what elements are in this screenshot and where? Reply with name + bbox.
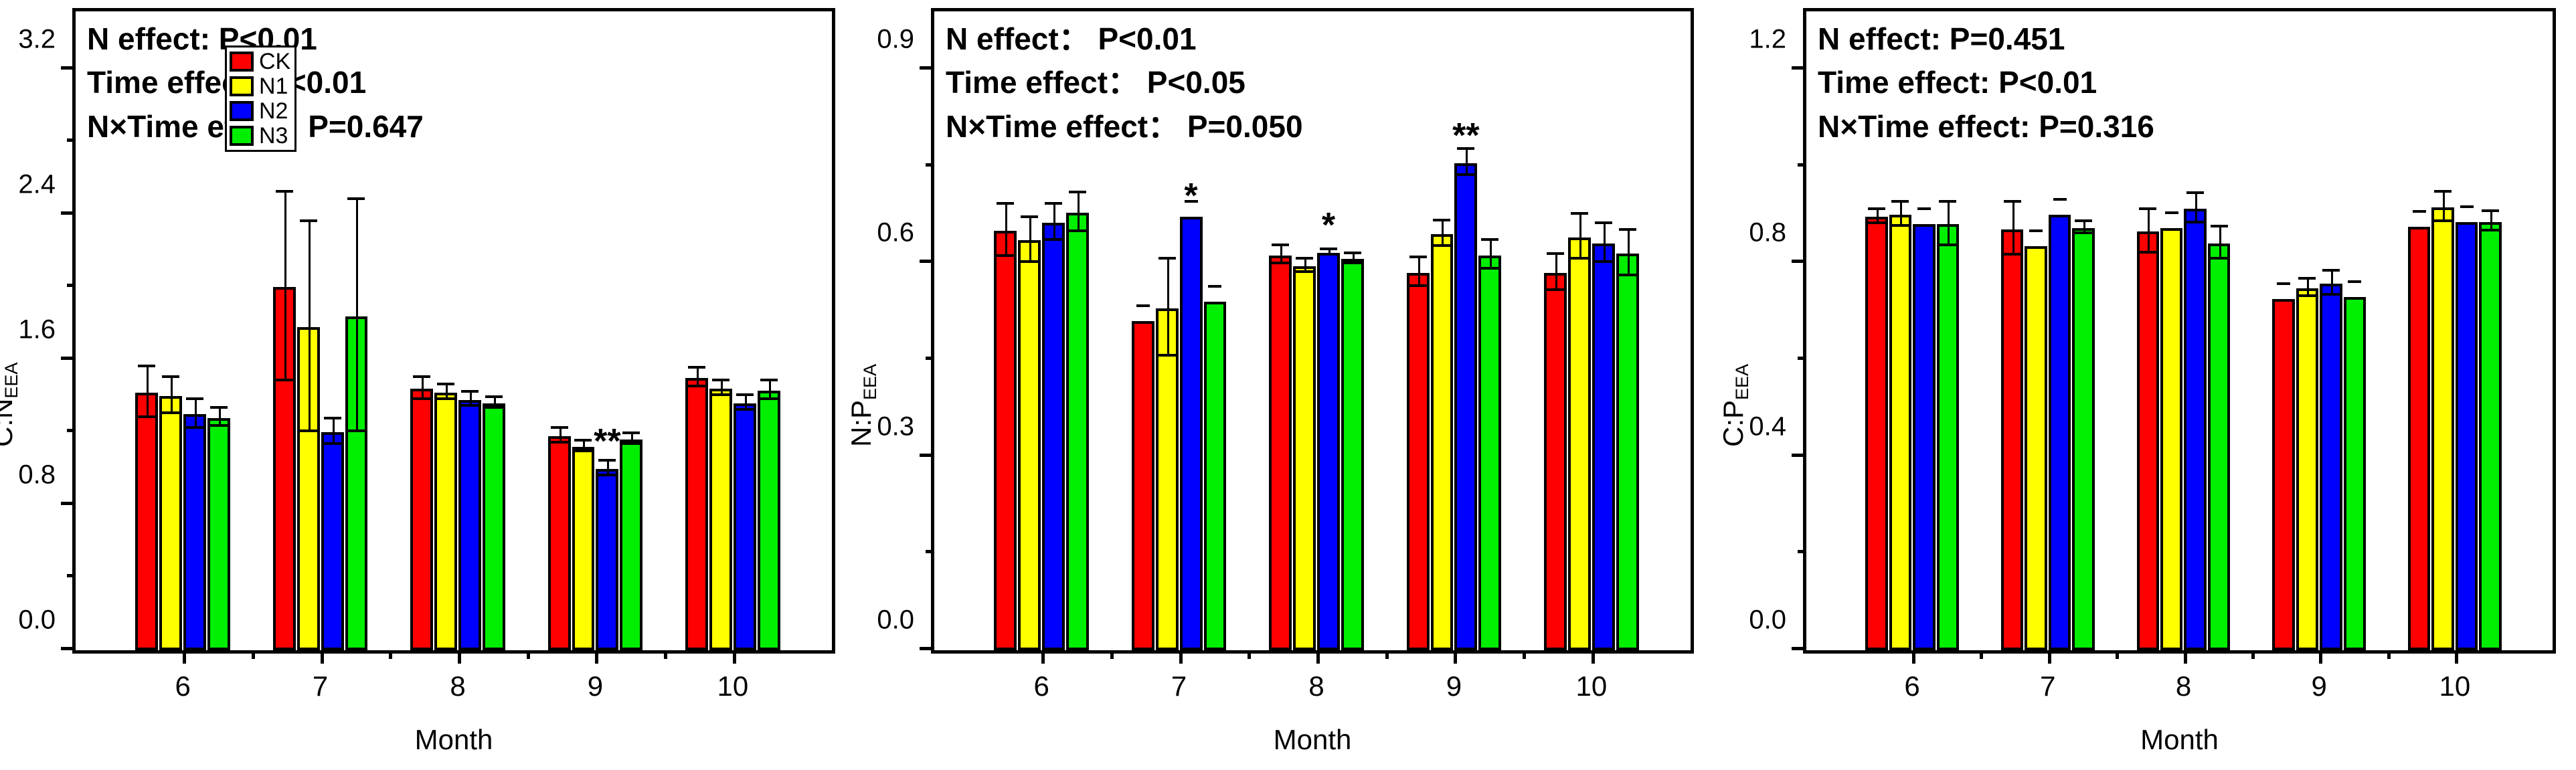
y-axis-title-main: N:P (845, 400, 877, 447)
error-bar-cap-bottom (736, 408, 754, 411)
significance-marker: ** (594, 424, 620, 459)
error-bar-cap-top (1069, 191, 1086, 193)
bar-slot (620, 11, 642, 650)
error-bar-cap-top (300, 219, 317, 222)
bar-slot (2296, 11, 2318, 650)
bar-group (2272, 11, 2366, 650)
bar-slot (458, 11, 481, 650)
error-bar-cap-top (1296, 257, 1313, 260)
bar-n2-month-7[interactable] (321, 432, 344, 650)
error-bar-cap-bottom (1891, 224, 1909, 227)
legend-item-n1[interactable]: N1 (230, 75, 290, 98)
bar-ck-month-8[interactable] (2137, 231, 2159, 650)
error-bar-cap-top (1045, 202, 1062, 205)
error-bar-cap-bottom (276, 379, 293, 381)
bar-n1-month-6[interactable] (1889, 215, 1911, 650)
y-axis-tick (920, 66, 934, 70)
error-bar-cap-top (347, 197, 365, 200)
bar-group (410, 11, 505, 650)
y-axis-tick (920, 260, 934, 263)
error-bar-cap-bottom (1069, 229, 1086, 232)
x-axis-tick (2319, 650, 2322, 664)
x-axis-minor-tick (1110, 650, 1114, 659)
y-axis-tick-label: 0.8 (1749, 218, 1786, 248)
error-bar (171, 378, 173, 414)
y-axis-minor-tick (67, 574, 76, 577)
bar-slot (2208, 11, 2230, 650)
bar-slot (2272, 11, 2294, 650)
y-axis-minor-tick (1798, 163, 1806, 167)
error-bar (147, 367, 149, 418)
error-bar-cap-bottom (138, 415, 155, 418)
bar-ck-month-8[interactable] (410, 389, 433, 650)
y-axis-minor-tick (67, 284, 76, 287)
error-bar (2148, 210, 2150, 254)
bar-n2-month-8[interactable] (458, 400, 481, 650)
x-axis-minor-tick (2387, 650, 2391, 659)
bar-n2-month-10[interactable] (2456, 222, 2478, 650)
bar-ck-month-10[interactable] (2408, 227, 2430, 650)
error-bar-cap-top (2139, 207, 2156, 210)
error-bar (1628, 231, 1630, 276)
error-bar-cap-top (1939, 200, 1956, 203)
error-bar-cap-bottom (997, 254, 1014, 257)
x-axis-minor-tick (527, 650, 530, 659)
bar-slot (2456, 11, 2478, 650)
error-bar-cap-top (2029, 229, 2043, 232)
y-axis-tick (61, 357, 76, 360)
x-axis-tick (1592, 650, 1595, 664)
legend: CKN1N2N3 (225, 45, 296, 152)
x-axis-tick (321, 650, 324, 664)
error-bar-cap-bottom (300, 429, 317, 432)
bar-n1-month-8[interactable] (2160, 228, 2182, 650)
error-bar-cap-bottom (324, 442, 341, 445)
stats-line-n-effect: N effect: P=0.451 (1818, 17, 2154, 61)
significance-marker: * (1184, 179, 1197, 213)
error-bar (1167, 260, 1169, 357)
bar-n3-month-8[interactable] (2208, 244, 2230, 650)
error-bar-cap-top (1481, 238, 1498, 241)
bar-n3-month-6[interactable] (1066, 213, 1089, 650)
figure-root: 0.00.81.62.43.2678**910MonthC:NEEAN effe… (0, 0, 2576, 770)
y-axis-tick-label: 0.0 (877, 605, 914, 636)
error-bar (2012, 203, 2014, 256)
error-bar-cap-bottom (712, 393, 729, 396)
bar-n3-month-10[interactable] (1616, 254, 1639, 650)
error-bar (1029, 218, 1031, 264)
error-bar (333, 419, 335, 445)
bar-slot (1431, 11, 1454, 650)
error-bar-cap-top (1547, 252, 1564, 255)
bar-n2-month-7[interactable] (1180, 217, 1203, 650)
bar-n3-month-6[interactable] (1937, 224, 1959, 650)
x-axis-tick-label: 9 (1446, 670, 1462, 702)
error-bar-cap-bottom (760, 397, 778, 400)
x-axis-tick-label: 6 (1034, 670, 1049, 702)
x-axis-tick-label: 10 (2439, 670, 2471, 702)
y-axis-title-subscript: EEA (860, 364, 880, 400)
y-axis-tick-label: 2.4 (18, 169, 56, 199)
error-bar (1418, 258, 1420, 286)
error-bar (2219, 227, 2221, 260)
x-axis-tick (2184, 650, 2187, 664)
error-bar (195, 400, 197, 429)
error-bar-cap-top (2186, 191, 2204, 194)
legend-item-ck[interactable]: CK (230, 50, 290, 73)
error-bar-cap-bottom (461, 404, 479, 407)
error-bar-cap-bottom (186, 426, 203, 429)
error-bar-cap-top (2348, 280, 2361, 283)
x-axis-tick (595, 650, 598, 664)
error-bar-cap-top (712, 379, 729, 381)
bar-slot (2160, 11, 2182, 650)
x-axis-minor-tick (1248, 650, 1251, 659)
x-axis-tick-label: 6 (1904, 670, 1919, 702)
error-bar-cap-top (324, 417, 341, 419)
y-axis-tick (1792, 66, 1806, 70)
error-bar-cap-bottom (162, 411, 179, 414)
error-bar-cap-top (688, 366, 705, 369)
x-axis-tick (733, 650, 736, 664)
x-axis-minor-tick (389, 650, 392, 659)
chart-panel-np: 0.00.30.60.96*7*8**910MonthN:PEEAN effec… (859, 0, 1717, 770)
error-bar-cap-top (1571, 212, 1588, 215)
error-bar-cap-top (1409, 256, 1427, 258)
error-bar (1900, 203, 1902, 227)
x-axis-tick-label: 6 (175, 670, 191, 702)
x-axis-tick (2048, 650, 2051, 664)
y-axis-tick (920, 454, 934, 457)
x-axis-title: Month (931, 724, 1694, 756)
bar-slot (1341, 11, 1364, 650)
error-bar-cap-top (2434, 190, 2452, 193)
error-bar-cap-bottom (437, 397, 454, 400)
x-axis-minor-tick (1523, 650, 1526, 659)
y-axis-tick (61, 502, 76, 505)
bar-n1-month-10[interactable] (709, 389, 732, 650)
error-bar-cap-top (2053, 198, 2067, 201)
bar-ck-month-7[interactable] (2001, 229, 2023, 650)
y-axis-title: C:PEEA (1717, 364, 1749, 447)
error-bar-cap-top (551, 426, 568, 429)
significance-marker: ** (1452, 118, 1479, 153)
error-bar-cap-bottom (210, 424, 228, 427)
bar-group: ** (548, 11, 643, 650)
bar-ck-month-6[interactable] (994, 231, 1017, 650)
error-bar-cap-bottom (1547, 288, 1564, 291)
y-axis-tick (920, 647, 934, 650)
error-bar (2195, 194, 2197, 223)
bar-slot (758, 11, 780, 650)
y-axis-tick-label: 0.9 (877, 24, 914, 54)
bar-slot: ** (596, 11, 618, 650)
bar-ck-month-10[interactable] (1544, 273, 1567, 650)
chart-panel-cn: 0.00.81.62.43.2678**910MonthC:NEEAN effe… (0, 0, 859, 770)
bar-n2-month-10[interactable] (1592, 244, 1615, 650)
bar-n2-month-6[interactable] (183, 414, 206, 650)
x-axis-minor-tick (2251, 650, 2255, 659)
error-bar-cap-top (461, 390, 479, 393)
error-bar-cap-top (162, 375, 179, 378)
legend-swatch-ck (230, 52, 254, 72)
error-bar-cap-top (2075, 219, 2092, 222)
y-axis-tick-label: 0.6 (877, 218, 914, 248)
error-bar (1053, 205, 1055, 241)
error-bar (1442, 221, 1444, 248)
bar-n1-month-6[interactable] (1018, 240, 1041, 650)
bar-ck-month-10[interactable] (685, 378, 708, 650)
bar-group (685, 11, 780, 650)
error-bar-cap-top (574, 439, 592, 442)
y-axis-tick (1792, 260, 1806, 263)
bar-n2-month-7[interactable] (2049, 215, 2071, 650)
y-axis-tick (1792, 647, 1806, 650)
bar-n1-month-7[interactable] (2025, 246, 2047, 650)
bar-n2-month-6[interactable] (1042, 223, 1065, 650)
bar-n3-month-10[interactable] (2479, 222, 2501, 650)
x-axis-tick (183, 650, 186, 664)
x-axis-tick (1041, 650, 1045, 664)
chart-panel-cp: 0.00.40.81.2678910MonthC:PEEAN effect: P… (1717, 0, 2576, 770)
error-bar-cap-bottom (1939, 244, 1956, 246)
bar-n2-month-6[interactable] (1913, 224, 1935, 650)
x-axis-tick-label: 7 (1171, 670, 1187, 702)
y-axis-tick-label: 0.8 (18, 460, 56, 490)
bar-ck-month-7[interactable] (1132, 321, 1154, 650)
legend-item-n2[interactable]: N2 (230, 100, 290, 122)
stats-line-interaction-effect: N×Time effect： P=0.050 (946, 105, 1303, 149)
legend-swatch-n2 (230, 101, 254, 121)
y-axis-tick (61, 66, 76, 70)
error-bar-cap-bottom (1344, 262, 1361, 264)
bar-slot (2431, 11, 2454, 650)
error-bar (1604, 224, 1606, 263)
bar-n1-month-8[interactable] (434, 393, 457, 650)
error-bar-cap-bottom (2322, 293, 2340, 296)
x-axis-minor-tick (1385, 650, 1389, 659)
y-axis-tick (61, 211, 76, 215)
bar-ck-month-8[interactable] (1269, 256, 1292, 650)
error-bar-cap-top (736, 393, 754, 396)
x-axis-minor-tick (2116, 650, 2119, 659)
error-bar-cap-top (2211, 225, 2228, 227)
error-bar-cap-bottom (598, 474, 616, 476)
bar-n2-month-8[interactable] (1317, 253, 1340, 650)
bar-n3-month-7[interactable] (2072, 228, 2094, 650)
error-bar (1948, 203, 1950, 246)
bar-ck-month-6[interactable] (1865, 217, 1887, 650)
x-axis-tick-label: 10 (1575, 670, 1607, 702)
error-bar-cap-top (1619, 228, 1636, 231)
significance-marker: * (1322, 208, 1335, 243)
x-axis-tick-label: 9 (2312, 670, 2327, 702)
bar-ck-month-6[interactable] (135, 393, 158, 650)
error-bar (356, 200, 358, 432)
error-bar-cap-top (2277, 282, 2290, 285)
y-axis-minor-tick (1798, 357, 1806, 360)
error-bar-cap-bottom (413, 397, 430, 400)
error-bar-cap-bottom (2211, 257, 2228, 260)
error-bar-cap-bottom (1481, 267, 1498, 270)
stats-line-interaction-effect: N×Time effect: P=0.316 (1818, 105, 2154, 149)
y-axis-minor-tick (67, 138, 76, 142)
error-bar-cap-top (2460, 205, 2474, 208)
error-bar-cap-top (1208, 285, 1221, 288)
y-axis-title-main: C:N (0, 399, 18, 447)
y-axis-tick-label: 1.2 (1749, 24, 1786, 54)
error-bar-cap-bottom (2004, 253, 2021, 256)
error-bar-cap-bottom (1296, 270, 1313, 273)
bar-slot (548, 11, 571, 650)
error-bar-cap-top (2165, 211, 2178, 214)
bar-n3-month-7[interactable] (1204, 302, 1227, 650)
bar-slot: ** (1454, 11, 1477, 650)
y-axis-title-main: C:P (1717, 400, 1749, 447)
error-bar (2443, 193, 2445, 221)
y-axis-tick-label: 0.4 (1749, 411, 1786, 442)
error-bar-cap-top (186, 397, 203, 400)
y-axis-minor-tick (1798, 550, 1806, 553)
bar-slot (2408, 11, 2430, 650)
bar-slot (734, 11, 756, 650)
bar-group (2408, 11, 2502, 650)
legend-label: N1 (259, 75, 288, 98)
y-axis-minor-tick (926, 163, 934, 167)
legend-label: N2 (259, 100, 288, 122)
x-axis-title: Month (1803, 724, 2556, 756)
error-bar-cap-bottom (485, 406, 503, 409)
bar-n3-month-10[interactable] (758, 391, 780, 650)
y-axis-title: C:NEEA (0, 363, 19, 447)
error-bar-cap-top (1021, 215, 1038, 218)
x-axis-minor-tick (664, 650, 667, 659)
bar-n1-month-8[interactable] (1293, 266, 1316, 650)
bar-slot (2184, 11, 2206, 650)
x-axis-tick-label: 8 (450, 670, 465, 702)
x-axis-tick-label: 8 (2176, 670, 2191, 702)
bar-n3-month-8[interactable] (1341, 259, 1364, 650)
error-bar-cap-bottom (347, 429, 365, 432)
x-axis-tick-label: 9 (588, 670, 603, 702)
x-axis-tick (1179, 650, 1183, 664)
error-bar-cap-top (413, 375, 430, 378)
x-axis-tick-label: 7 (2040, 670, 2055, 702)
legend-item-n3[interactable]: N3 (230, 124, 290, 147)
bar-n1-month-9[interactable] (572, 447, 595, 650)
bar-n2-month-9[interactable] (2320, 284, 2342, 650)
error-bar-cap-top (1433, 219, 1450, 221)
error-bar-cap-bottom (1457, 173, 1474, 176)
bar-n2-month-8[interactable] (2184, 209, 2206, 650)
bar-n2-month-9[interactable] (596, 469, 618, 650)
x-axis-tick (1912, 650, 1915, 664)
y-axis-title: N:PEEA (845, 364, 877, 447)
bar-slot (685, 11, 708, 650)
error-bar-cap-top (2482, 209, 2499, 212)
y-axis-tick-label: 1.6 (18, 314, 56, 345)
error-bar-cap-top (1917, 207, 1931, 210)
legend-swatch-n1 (230, 76, 254, 96)
bar-n2-month-10[interactable] (734, 403, 756, 650)
error-bar (1005, 205, 1007, 256)
error-bar-cap-bottom (2075, 231, 2092, 234)
bar-ck-month-9[interactable] (548, 436, 571, 650)
bar-n3-month-9[interactable] (2344, 297, 2366, 650)
bar-slot (2320, 11, 2342, 650)
bar-n3-month-8[interactable] (483, 403, 505, 650)
x-axis-tick (458, 650, 461, 664)
error-bar-cap-bottom (1595, 260, 1612, 263)
error-bar-cap-bottom (1320, 253, 1337, 256)
error-bar-cap-bottom (1272, 262, 1289, 264)
y-axis-minor-tick (67, 429, 76, 432)
y-axis-tick-label: 0.0 (18, 605, 56, 636)
bar-n1-month-7[interactable] (1156, 308, 1179, 650)
bar-group (1544, 11, 1639, 650)
y-axis-tick-label: 0.3 (877, 411, 914, 442)
error-bar-cap-bottom (1045, 238, 1062, 241)
x-axis-title: Month (72, 724, 835, 756)
y-axis-tick-label: 3.2 (18, 24, 56, 54)
stats-line-time-effect: Time effect： P<0.05 (946, 61, 1303, 104)
bar-n1-month-10[interactable] (2431, 207, 2454, 650)
error-bar (2331, 272, 2333, 296)
bar-group: ** (1407, 11, 1502, 650)
bar-n3-month-9[interactable] (620, 440, 642, 650)
stats-line-time-effect: Time effect: P<0.01 (1818, 61, 2154, 104)
bar-n1-month-9[interactable] (1431, 234, 1454, 650)
x-axis-minor-tick (252, 650, 255, 659)
bar-n2-month-9[interactable] (1454, 163, 1477, 650)
error-bar-cap-top (760, 379, 778, 381)
error-bar-cap-top (1891, 200, 1909, 203)
error-bar-cap-top (485, 395, 503, 398)
bar-slot (2479, 11, 2501, 650)
error-bar-cap-bottom (1409, 284, 1427, 287)
bar-slot (2344, 11, 2366, 650)
bar-n1-month-9[interactable] (2296, 288, 2318, 650)
error-bar-cap-top (210, 406, 228, 409)
legend-swatch-n3 (230, 126, 254, 146)
stats-line-n-effect: N effect： P<0.01 (946, 17, 1303, 61)
error-bar-cap-bottom (2186, 221, 2204, 223)
error-bar (284, 193, 286, 381)
error-bar-cap-bottom (1619, 274, 1636, 276)
error-bar-cap-top (138, 365, 155, 367)
bar-n1-month-10[interactable] (1568, 237, 1591, 650)
y-axis-title-subscript: EEA (1, 363, 21, 399)
legend-label: CK (259, 50, 290, 73)
y-axis-minor-tick (926, 550, 934, 553)
bar-ck-month-9[interactable] (1407, 273, 1430, 650)
error-bar-cap-bottom (1433, 244, 1450, 247)
bar-ck-month-9[interactable] (2272, 299, 2294, 650)
x-axis-tick-label: 7 (313, 670, 328, 702)
error-bar-cap-bottom (1021, 260, 1038, 263)
error-bar (1579, 215, 1581, 260)
bar-n3-month-9[interactable] (1478, 256, 1501, 650)
error-bar (309, 222, 311, 433)
bar-slot (1544, 11, 1567, 650)
error-bar-cap-top (1595, 221, 1612, 224)
bar-n1-month-6[interactable] (159, 396, 182, 650)
y-axis-tick (61, 647, 76, 650)
bar-n3-month-6[interactable] (207, 418, 230, 650)
error-bar-cap-top (2322, 269, 2340, 272)
error-bar-cap-bottom (1571, 257, 1588, 260)
bar-slot (483, 11, 505, 650)
